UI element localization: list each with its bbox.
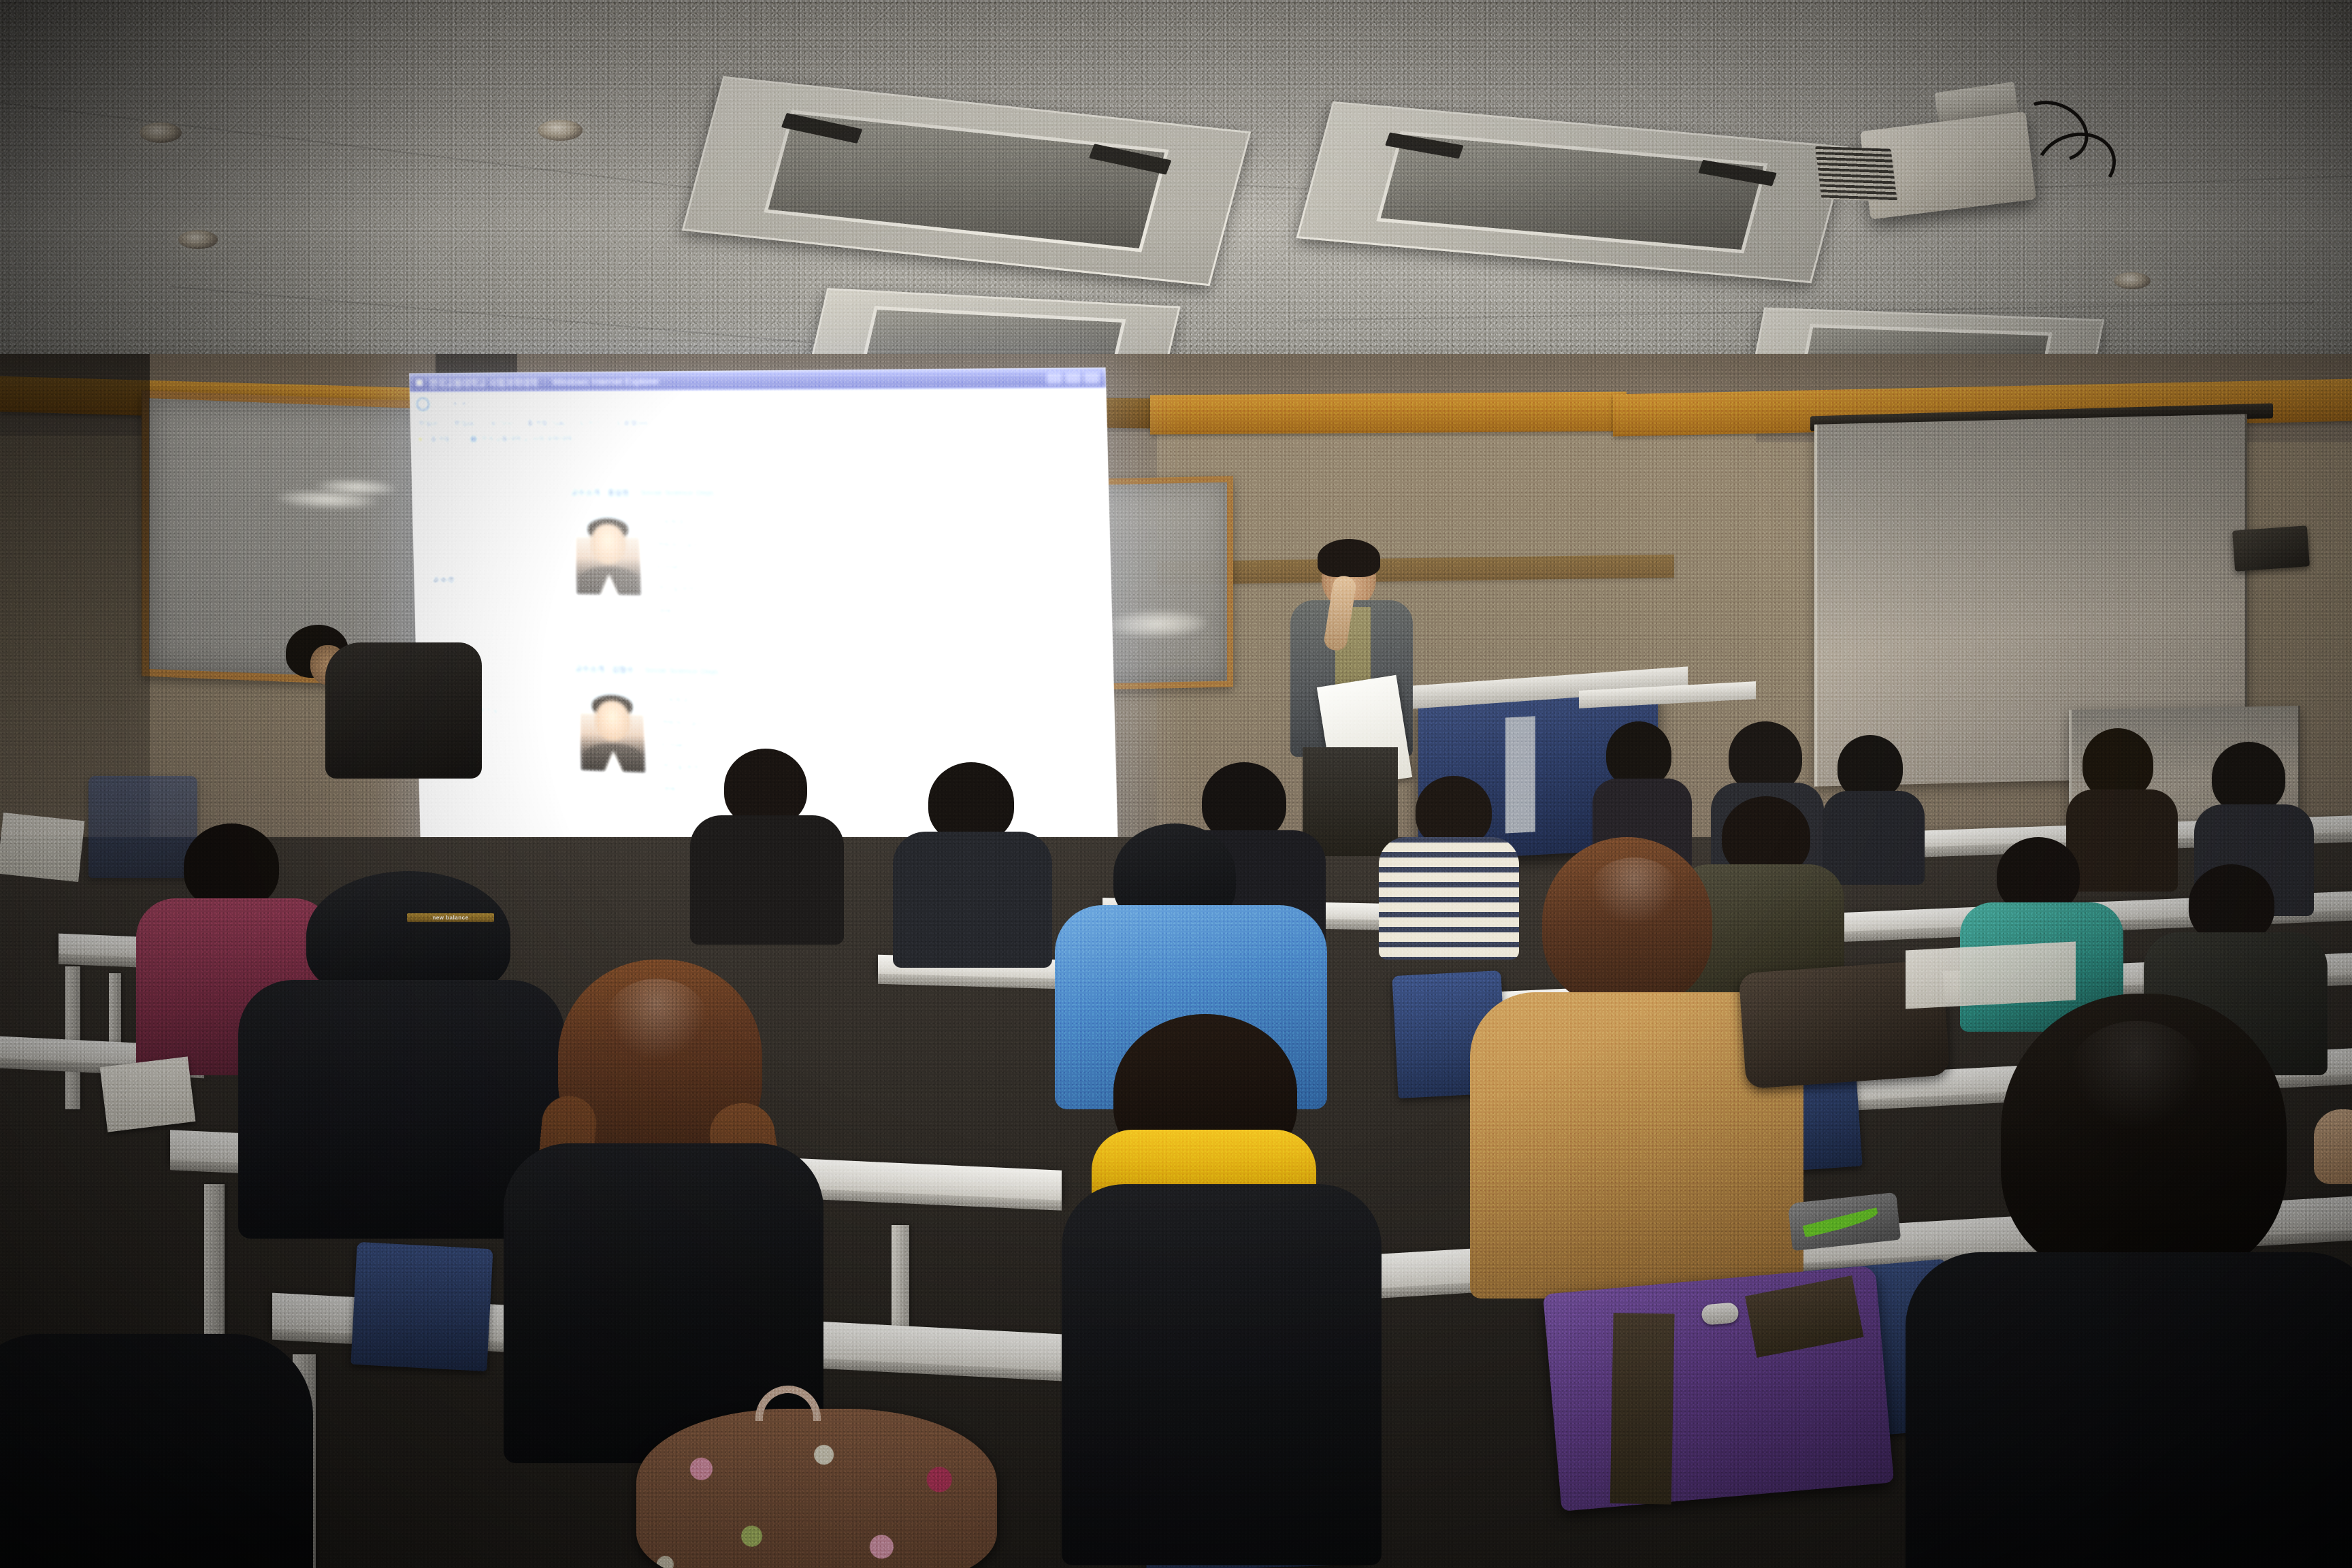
wall-speaker xyxy=(2232,525,2310,572)
ie-page-title: 한국교통대학교 사회과학대학 xyxy=(429,375,538,389)
sidebar-item-greeting[interactable]: 인사말 xyxy=(429,491,546,504)
whiteboard-glare xyxy=(1106,609,1208,638)
assistant-torso xyxy=(325,642,482,779)
nike-swoosh-icon xyxy=(1803,1207,1880,1238)
field-key-office: 연구실 위치 xyxy=(657,583,732,595)
field-value-office: 사회과학관 305호 xyxy=(732,584,791,596)
classroom-chair[interactable] xyxy=(88,776,197,878)
classroom-chair[interactable] xyxy=(350,1242,493,1371)
star-icon[interactable]: ★ xyxy=(416,434,424,444)
sidebar-item-faculty[interactable]: 교수진 xyxy=(431,572,548,587)
student-torso xyxy=(893,832,1052,968)
student-torso xyxy=(1906,1252,2352,1568)
portrait-face xyxy=(590,523,626,564)
faculty-card-body: 소속학과사회복지학과 연락처 / 내선043-000-0001 E-mailpr… xyxy=(567,676,1097,825)
faculty-card-subtitle: / Social Science Dept. xyxy=(635,488,715,497)
student-head xyxy=(2212,742,2285,813)
tab-label: 한국교통대학교 사회과학대학 xyxy=(480,433,574,444)
student-head xyxy=(1416,776,1492,847)
quick-link-registration[interactable]: 수강신청 xyxy=(497,734,551,746)
presenter-hair xyxy=(1318,539,1380,577)
field-value-phone: 043-000-0001 xyxy=(735,720,785,733)
site-favicon-icon xyxy=(414,378,424,387)
menu-item-file[interactable]: 파일(F) xyxy=(418,418,442,429)
raised-hand xyxy=(2314,1109,2352,1184)
student-torso xyxy=(0,1334,313,1568)
field-value-career: 서울대학교 행정학 박사 xyxy=(732,608,811,621)
faculty-portrait xyxy=(578,688,647,774)
hair-highlight xyxy=(2069,1021,2205,1130)
browser-tab[interactable]: 한국교통대학교 사회과학대학 xyxy=(463,431,581,445)
quick-link-certificates[interactable]: 증명발급 xyxy=(497,749,552,760)
field-value-email: prof@ut.ac.kr xyxy=(731,563,779,572)
field-key-phone: 연락처 / 내선 xyxy=(661,717,736,731)
address-bar-input[interactable]: http://www.ut.ac.kr/ xyxy=(471,393,1099,410)
site-header-graphic xyxy=(427,450,593,493)
purple-tote-bag xyxy=(1543,1265,1894,1511)
field-value-dept: 행정학과 xyxy=(730,517,760,529)
wall-wood-trim xyxy=(1150,392,1627,435)
faculty-card-title: 교수소개 · 김철수 xyxy=(574,662,634,675)
menu-item-edit[interactable]: 편집(E) xyxy=(453,417,478,428)
student-head xyxy=(1837,735,1903,799)
ie-favorites-bar: ★ 즐겨찾기 한국교통대학교 사회과학대학 xyxy=(410,430,1108,448)
sidebar-item-curriculum[interactable]: 교육과정 xyxy=(432,600,549,615)
sidebar-item-goals[interactable]: 교육목표 및 인재상 xyxy=(433,627,549,643)
faculty-fields: 소속학과사회복지학과 연락처 / 내선043-000-0001 E-mailpr… xyxy=(660,690,1093,825)
sidebar-item-history[interactable]: 연혁 xyxy=(431,545,547,559)
faculty-card-body: 소속학과행정학과 연락처 / 내선043-000-0000 E-mailprof… xyxy=(562,501,1092,638)
ie-title-separator: - xyxy=(544,376,547,387)
hair-highlight xyxy=(1590,857,1678,926)
faculty-portrait xyxy=(574,512,642,596)
student-head xyxy=(1729,721,1802,792)
student-head xyxy=(184,823,279,909)
student-torso xyxy=(1062,1184,1382,1565)
menu-item-help[interactable]: 도움말(H) xyxy=(615,417,649,429)
field-key-dept: 소속학과 xyxy=(655,517,730,528)
back-wall xyxy=(0,354,2352,871)
paisley-quilted-backpack xyxy=(636,1409,997,1568)
refresh-icon[interactable] xyxy=(462,401,466,406)
student-head xyxy=(724,749,807,826)
student-head xyxy=(2082,728,2153,799)
field-key-office: 연구실 위치 xyxy=(661,761,736,775)
lecture-hall-scene: 한국교통대학교 사회과학대학 - Windows Internet Explor… xyxy=(0,0,2352,1568)
forward-arrow-icon[interactable] xyxy=(436,397,448,409)
faculty-list-button[interactable]: 목록 xyxy=(1056,674,1084,687)
ie-navigation-bar: http://www.ut.ac.kr/ xyxy=(410,388,1107,415)
student-head xyxy=(2189,864,2274,943)
faculty-fields: 소속학과행정학과 연락처 / 내선043-000-0000 E-mailprof… xyxy=(655,512,1088,638)
field-key-career: 경력 xyxy=(657,606,732,619)
student-torso xyxy=(2066,789,2178,892)
presenter-legs xyxy=(1303,747,1398,856)
maximize-button[interactable] xyxy=(1065,372,1081,383)
faculty-list-button[interactable]: 목록 xyxy=(1051,489,1079,502)
menu-item-tools[interactable]: 도구(T) xyxy=(578,417,603,428)
student-torso xyxy=(1823,791,1925,885)
menu-item-favorites[interactable]: 즐겨찾기(A) xyxy=(526,417,566,428)
sidebar-item-department[interactable]: 학과 xyxy=(430,518,546,532)
chevron-down-icon[interactable] xyxy=(453,401,457,406)
faculty-card: 교수소개 · 김철수 / Social Science Dept. 목록 xyxy=(566,659,1097,825)
lectern-panel xyxy=(1505,716,1535,833)
field-value-dept: 사회복지학과 xyxy=(734,696,779,709)
quick-link-notices[interactable]: 공지사항 xyxy=(497,763,552,774)
nordic-sweater xyxy=(1379,837,1519,960)
minimize-button[interactable] xyxy=(1047,372,1062,383)
bag-strap xyxy=(1745,1275,1864,1358)
paper-handout xyxy=(100,1056,196,1132)
field-key-email: E-mail xyxy=(657,563,732,572)
desk-leg xyxy=(65,966,80,1109)
window-controls[interactable] xyxy=(1047,372,1100,384)
back-arrow-icon[interactable] xyxy=(416,397,430,411)
field-value-phone: 043-000-0000 xyxy=(731,540,781,552)
student-torso xyxy=(690,815,844,945)
field-key-phone: 연락처 / 내선 xyxy=(656,540,731,552)
menu-item-view[interactable]: 보기(V) xyxy=(489,417,514,428)
tab-favicon-icon xyxy=(470,436,477,442)
new-balance-logo: new balance xyxy=(407,913,494,922)
desk-papers xyxy=(1906,941,2076,1009)
student-head xyxy=(1202,762,1286,841)
faculty-card-subtitle: / Social Science Dept. xyxy=(640,666,720,676)
faculty-card: 교수소개 · 홍길동 / Social Science Dept. 목록 xyxy=(562,483,1092,638)
new-balance-logo-text: new balance xyxy=(432,915,468,921)
close-button[interactable] xyxy=(1084,372,1100,383)
field-key-email: E-mail xyxy=(661,740,736,751)
bag-strap xyxy=(1610,1313,1675,1505)
paper-handout xyxy=(0,813,84,882)
favorites-label[interactable]: 즐겨찾기 xyxy=(430,434,458,444)
ie-menu-bar: 파일(F) 편집(E) 보기(V) 즐겨찾기(A) 도구(T) 도움말(H) xyxy=(410,413,1107,431)
hair-highlight xyxy=(606,979,708,1060)
ie-app-name: Windows Internet Explorer xyxy=(552,376,659,387)
student-head xyxy=(928,762,1014,843)
field-key-dept: 소속학과 xyxy=(660,694,735,708)
bag-clasp xyxy=(1701,1302,1739,1326)
student-head xyxy=(1606,721,1671,787)
